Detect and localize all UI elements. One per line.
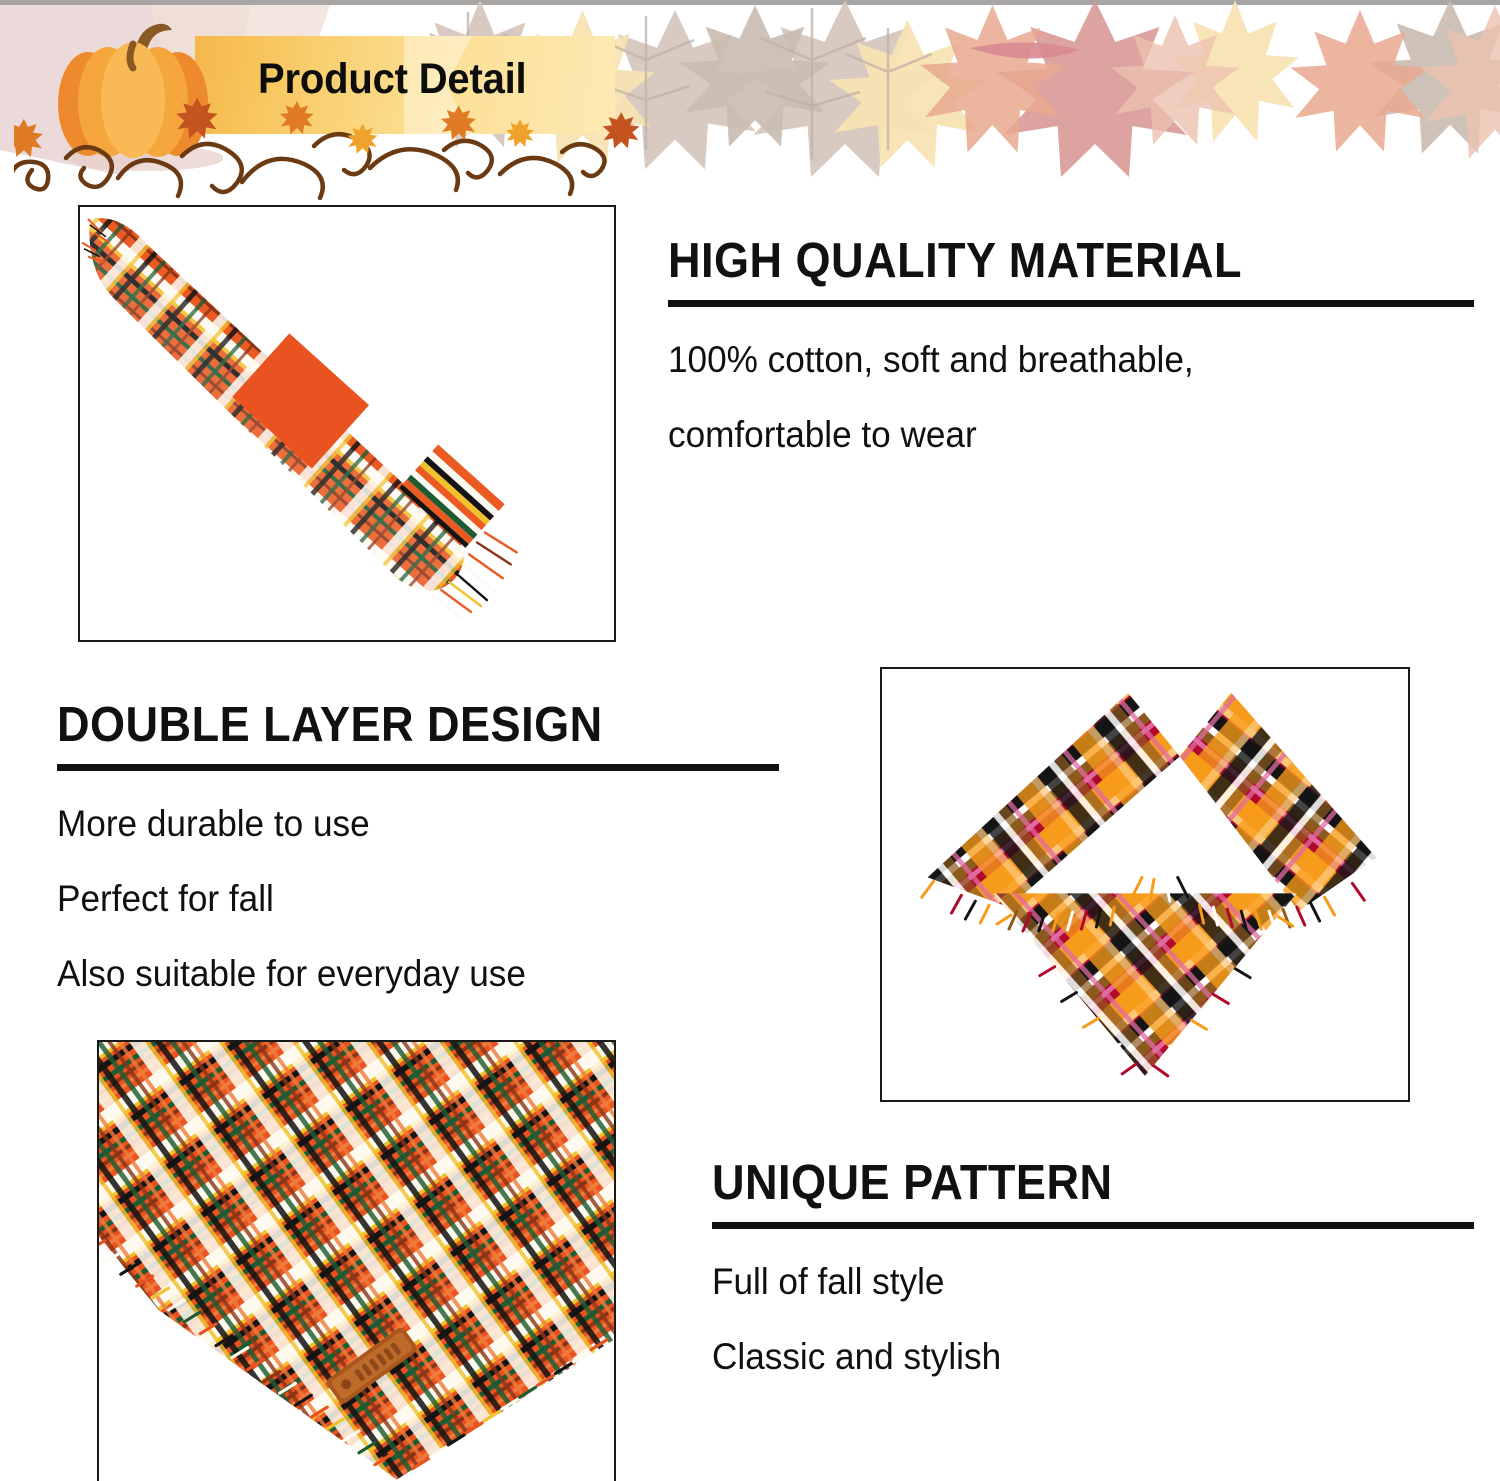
feature-body: More durable to use Perfect for fall Als… <box>57 805 779 992</box>
heading-underline <box>712 1222 1474 1229</box>
feature-line: Full of fall style <box>712 1263 1436 1300</box>
feature-unique-pattern: UNIQUE PATTERN Full of fall style Classi… <box>712 1158 1474 1413</box>
feature-line: Also suitable for everyday use <box>57 955 743 992</box>
feature-line: 100% cotton, soft and breathable, <box>668 341 1434 378</box>
feature-high-quality-material: HIGH QUALITY MATERIAL 100% cotton, soft … <box>668 236 1474 491</box>
tied-bandana-image <box>882 669 1408 1101</box>
tied-bandana-photo <box>880 667 1410 1102</box>
feature-heading: HIGH QUALITY MATERIAL <box>668 236 1410 287</box>
feature-heading: DOUBLE LAYER DESIGN <box>57 700 721 751</box>
feature-double-layer-design: DOUBLE LAYER DESIGN More durable to use … <box>57 700 779 1030</box>
feature-heading: UNIQUE PATTERN <box>712 1158 1413 1209</box>
feature-line: comfortable to wear <box>668 416 1434 453</box>
feature-body: 100% cotton, soft and breathable, comfor… <box>668 341 1474 453</box>
feature-line: More durable to use <box>57 805 743 842</box>
rolled-bandana-photo <box>78 205 616 642</box>
heading-underline <box>57 764 779 771</box>
page-header: Product Detail <box>0 0 1500 200</box>
vine-swirl-decoration <box>14 96 654 200</box>
flat-lay-bandana-image <box>99 1042 614 1480</box>
feature-line: Classic and stylish <box>712 1338 1436 1375</box>
rolled-bandana-image <box>80 207 614 641</box>
feature-line: Perfect for fall <box>57 880 743 917</box>
heading-underline <box>668 300 1474 307</box>
flat-lay-bandana-photo <box>97 1040 616 1481</box>
feature-body: Full of fall style Classic and stylish <box>712 1263 1474 1375</box>
banner-title: Product Detail <box>258 48 574 110</box>
